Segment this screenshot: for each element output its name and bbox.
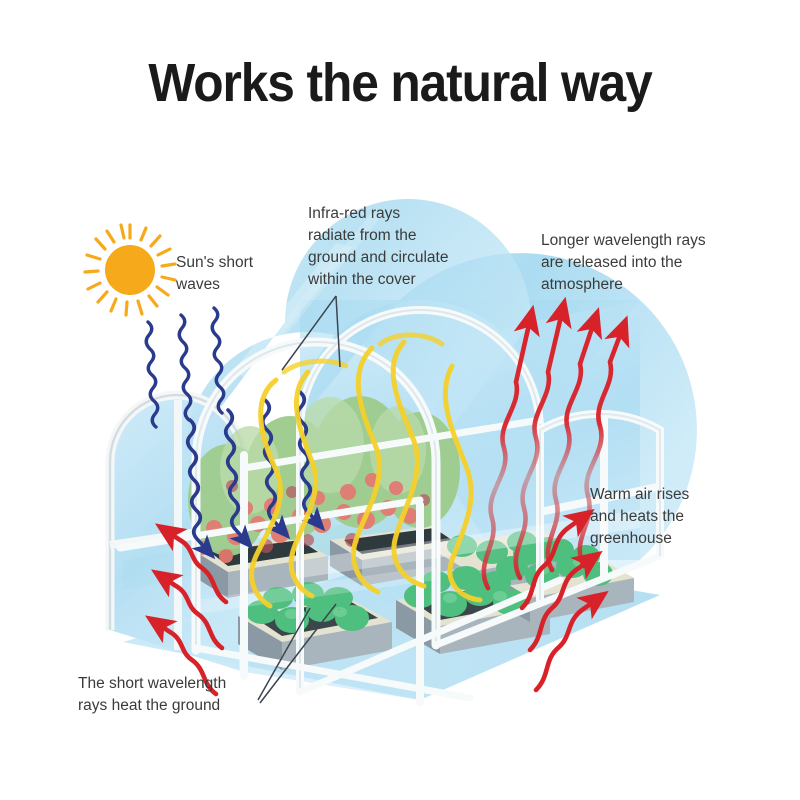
callout-suns-short-waves: Sun's short waves [176, 252, 306, 296]
callout-warm-air-rises: Warm air rises and heats the greenhouse [590, 484, 740, 550]
callout-short-wavelength-ground: The short wavelength rays heat the groun… [78, 673, 308, 717]
sun-icon [85, 225, 175, 315]
callout-infrared-rays: Infra-red rays radiate from the ground a… [308, 203, 458, 291]
callout-longer-wavelength: Longer wavelength rays are released into… [541, 230, 751, 296]
infographic-page: Works the natural way [0, 0, 800, 800]
